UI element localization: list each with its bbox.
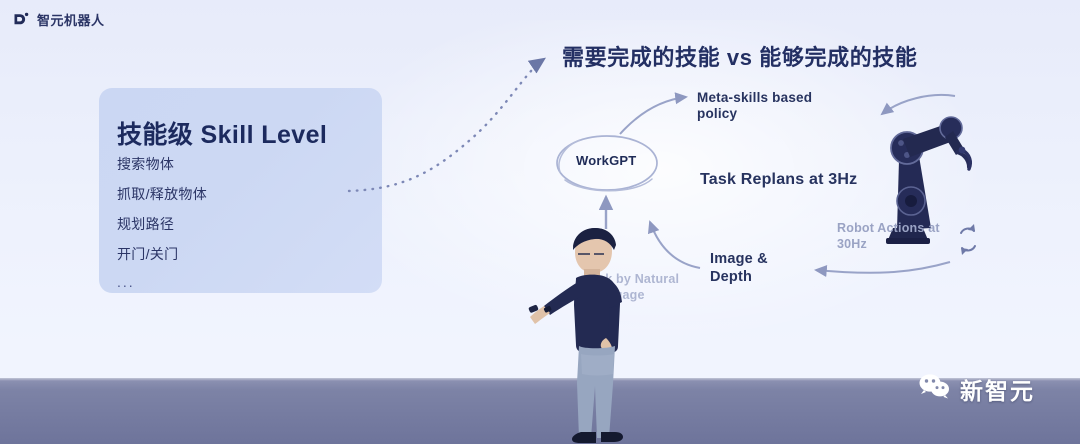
presenter-figure <box>528 222 648 444</box>
label-task-replans: Task Replans at 3Hz <box>700 170 857 190</box>
label-robot-actions: Robot Actions at 30Hz <box>837 221 947 252</box>
list-ellipsis: ... <box>117 274 207 290</box>
list-item: 搜索物体 <box>117 154 207 174</box>
label-workgpt: WorkGPT <box>576 153 636 169</box>
list-item: 开门/关门 <box>117 244 207 264</box>
brand-logo: 智元机器人 <box>12 10 105 29</box>
list-item: 抓取/释放物体 <box>117 184 207 204</box>
skill-level-panel: 技能级 Skill Level 搜索物体 抓取/释放物体 规划路径 开门/关门 … <box>99 88 382 293</box>
label-meta-skills: Meta-skills based policy <box>697 90 817 123</box>
slide-stage: 智元机器人 技能级 Skill Level 搜索物体 抓取/释放物体 规划路径 … <box>0 0 1080 444</box>
robot-logo-icon <box>12 11 30 29</box>
wechat-icon <box>918 373 952 406</box>
skill-panel-title: 技能级 Skill Level <box>117 115 327 151</box>
skill-list: 搜索物体 抓取/释放物体 规划路径 开门/关门 ... <box>117 154 207 290</box>
brand-name: 智元机器人 <box>37 10 105 29</box>
watermark-label: 新智元 <box>960 372 1035 406</box>
page-title: 需要完成的技能 vs 能够完成的技能 <box>562 40 918 72</box>
channel-watermark: 新智元 <box>918 372 1035 406</box>
list-item: 规划路径 <box>117 214 207 234</box>
label-image-depth: Image & Depth <box>710 251 800 286</box>
